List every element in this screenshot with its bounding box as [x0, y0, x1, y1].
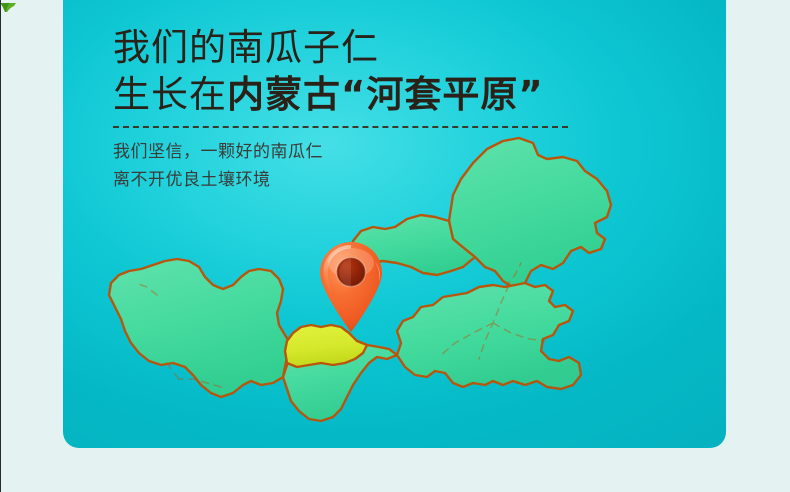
page-canvas: 我们的南瓜子仁 生长在内蒙古“河套平原” 我们坚信，一颗好的南瓜仁 离不开优良土…: [0, 0, 790, 492]
subtitle-line-1: 我们坚信，一颗好的南瓜仁: [113, 138, 633, 166]
leaf-icon: [1, 0, 16, 12]
page-title: 我们的南瓜子仁 生长在内蒙古“河套平原”: [113, 24, 633, 118]
location-pin-icon: [316, 241, 386, 333]
hero-copy: 我们的南瓜子仁 生长在内蒙古“河套平原” 我们坚信，一颗好的南瓜仁 离不开优良土…: [113, 24, 633, 194]
subtitle-line-2: 离不开优良土壤环境: [113, 166, 633, 194]
headline-line-1: 我们的南瓜子仁: [113, 24, 633, 71]
headline-place: “河套平原”: [341, 73, 544, 116]
hero-subtitle: 我们坚信，一颗好的南瓜仁 离不开优良土壤环境: [113, 138, 633, 194]
headline-region: 内蒙古: [227, 73, 341, 116]
headline-prefix: 生长在: [113, 73, 227, 116]
hero-panel: 我们的南瓜子仁 生长在内蒙古“河套平原” 我们坚信，一颗好的南瓜仁 离不开优良土…: [63, 0, 726, 448]
headline-line-2: 生长在内蒙古“河套平原”: [113, 71, 633, 118]
dashed-divider: [113, 126, 568, 128]
